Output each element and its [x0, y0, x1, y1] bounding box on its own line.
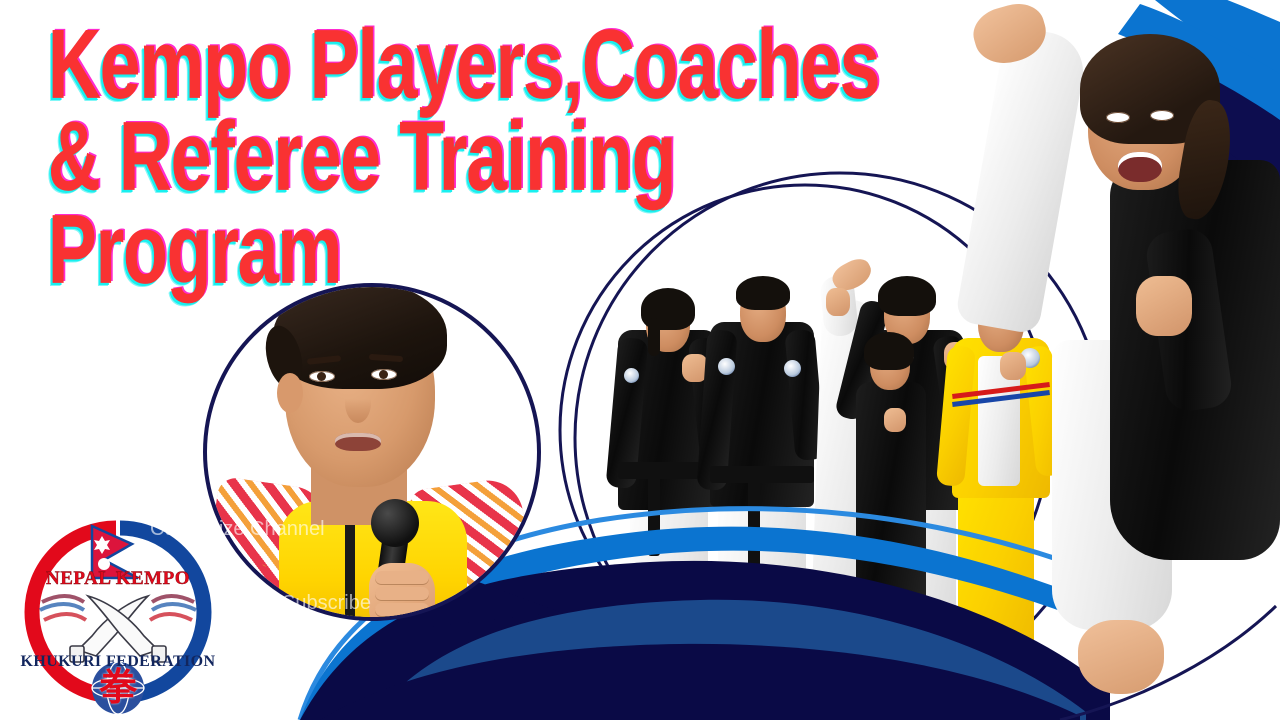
hand-holding-mic	[369, 563, 435, 621]
eye-right	[371, 369, 397, 380]
girl-raised-leg	[955, 25, 1090, 335]
mouth	[335, 433, 381, 451]
girl-eye-left	[1106, 112, 1130, 123]
kicking-girl-photo	[960, 0, 1280, 720]
girl-open-mouth	[1118, 152, 1162, 182]
poster-canvas: Customize Channel Subscribe	[0, 0, 1280, 720]
logo-top-text: NEPAL KEMPO	[8, 568, 228, 590]
eye-left	[309, 371, 335, 382]
girl-fist	[1136, 276, 1192, 336]
girl-eye-right	[1150, 110, 1174, 121]
girl-standing-foot	[1078, 620, 1164, 694]
hair	[273, 283, 447, 389]
portrait-man-with-microphone	[203, 283, 541, 621]
logo-kanji-glyph: 拳	[8, 668, 228, 706]
logo-bottom-text: KHUKURI FEDERATION	[8, 653, 228, 671]
microphone-head	[371, 499, 419, 547]
nose	[345, 383, 371, 423]
ear-left	[277, 373, 303, 413]
federation-logo: 拳 NEPAL KEMPO KHUKURI FEDERATION	[8, 510, 228, 715]
